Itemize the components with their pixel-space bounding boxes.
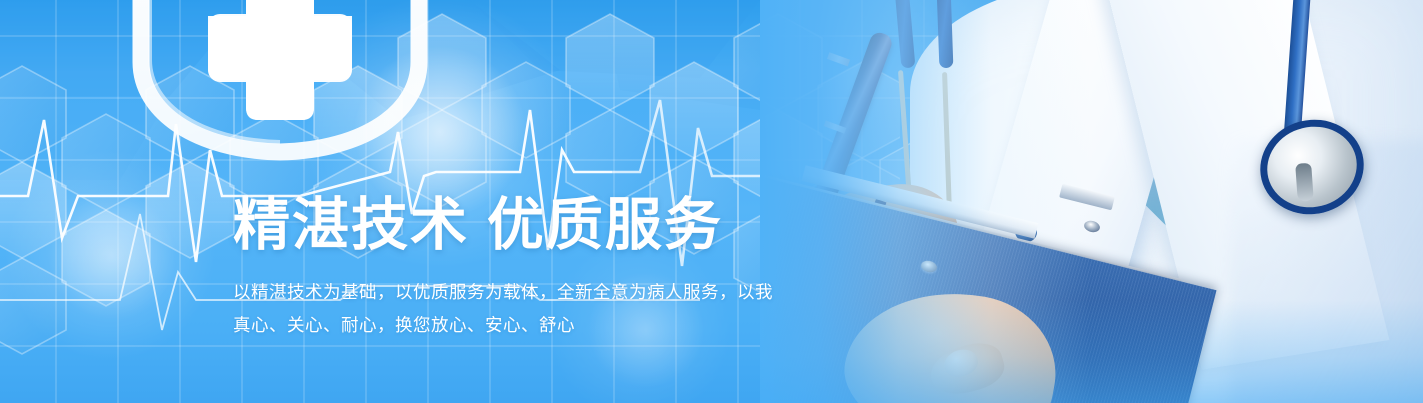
banner-subtitle-line-2: 真心、关心、耐心，换您放心、安心、舒心 [233, 309, 793, 342]
medical-banner: 精湛技术 优质服务 以精湛技术为基础，以优质服务为载体，全新全意为病人服务，以我… [0, 0, 1423, 403]
banner-subtitle: 以精湛技术为基础，以优质服务为载体，全新全意为病人服务，以我 真心、关心、耐心，… [233, 276, 793, 342]
banner-headline: 精湛技术 优质服务 [233, 192, 793, 258]
banner-subtitle-line-1: 以精湛技术为基础，以优质服务为载体，全新全意为病人服务，以我 [233, 276, 793, 309]
banner-text-block: 精湛技术 优质服务 以精湛技术为基础，以优质服务为载体，全新全意为病人服务，以我… [233, 192, 793, 342]
